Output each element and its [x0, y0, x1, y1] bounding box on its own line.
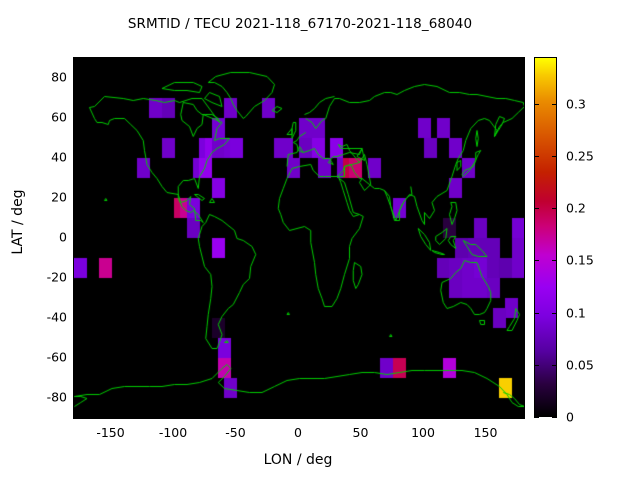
- y-tick-label: 80: [51, 70, 67, 85]
- colorbar: [534, 57, 557, 417]
- colorbar-tick-mark: [552, 208, 557, 209]
- x-axis-label: LON / deg: [73, 452, 523, 468]
- colorbar-tick-mark: [552, 156, 557, 157]
- y-tick-label: -20: [47, 270, 67, 285]
- colorbar-tick-mark: [552, 104, 557, 105]
- colorbar-tick-label: 0.25: [566, 149, 594, 164]
- y-tick-label: -60: [47, 350, 67, 365]
- colorbar-tick-mark: [552, 313, 557, 314]
- y-tick-label: 0: [59, 230, 67, 245]
- map-plot-area: [73, 57, 525, 419]
- y-tick-label: -40: [47, 310, 67, 325]
- y-tick-label: 40: [51, 150, 67, 165]
- colorbar-tick-mark: [552, 417, 557, 418]
- colorbar-tick-mark: [534, 417, 539, 418]
- colorbar-tick-mark: [534, 313, 539, 314]
- colorbar-tick-label: 0: [566, 410, 574, 425]
- y-tick-label: -80: [47, 390, 67, 405]
- x-tick-label: 150: [474, 425, 498, 440]
- x-tick-label: -100: [159, 425, 187, 440]
- page-title: SRMTID / TECU 2021-118_67170-2021-118_68…: [0, 16, 600, 32]
- colorbar-tick-mark: [534, 156, 539, 157]
- colorbar-tick-label: 0.1: [566, 305, 586, 320]
- colorbar-tick-mark: [534, 365, 539, 366]
- colorbar-tick-mark: [534, 104, 539, 105]
- colorbar-tick-mark: [552, 365, 557, 366]
- colorbar-tick-label: 0.2: [566, 201, 586, 216]
- y-axis-label: LAT / deg: [10, 132, 26, 312]
- x-tick-label: -150: [96, 425, 124, 440]
- x-tick-label: 0: [294, 425, 302, 440]
- colorbar-tick-label: 0.05: [566, 357, 594, 372]
- colorbar-tick-mark: [534, 208, 539, 209]
- x-tick-label: -50: [225, 425, 245, 440]
- colorbar-tick-label: 0.15: [566, 253, 594, 268]
- y-tick-label: 60: [51, 110, 67, 125]
- colorbar-tick-label: 0.3: [566, 96, 586, 111]
- colorbar-tick-mark: [552, 260, 557, 261]
- x-tick-label: 100: [411, 425, 435, 440]
- x-tick-label: 50: [353, 425, 369, 440]
- coastline-overlay: [74, 58, 524, 418]
- colorbar-gradient: [534, 57, 557, 417]
- y-tick-label: 20: [51, 190, 67, 205]
- colorbar-tick-mark: [534, 260, 539, 261]
